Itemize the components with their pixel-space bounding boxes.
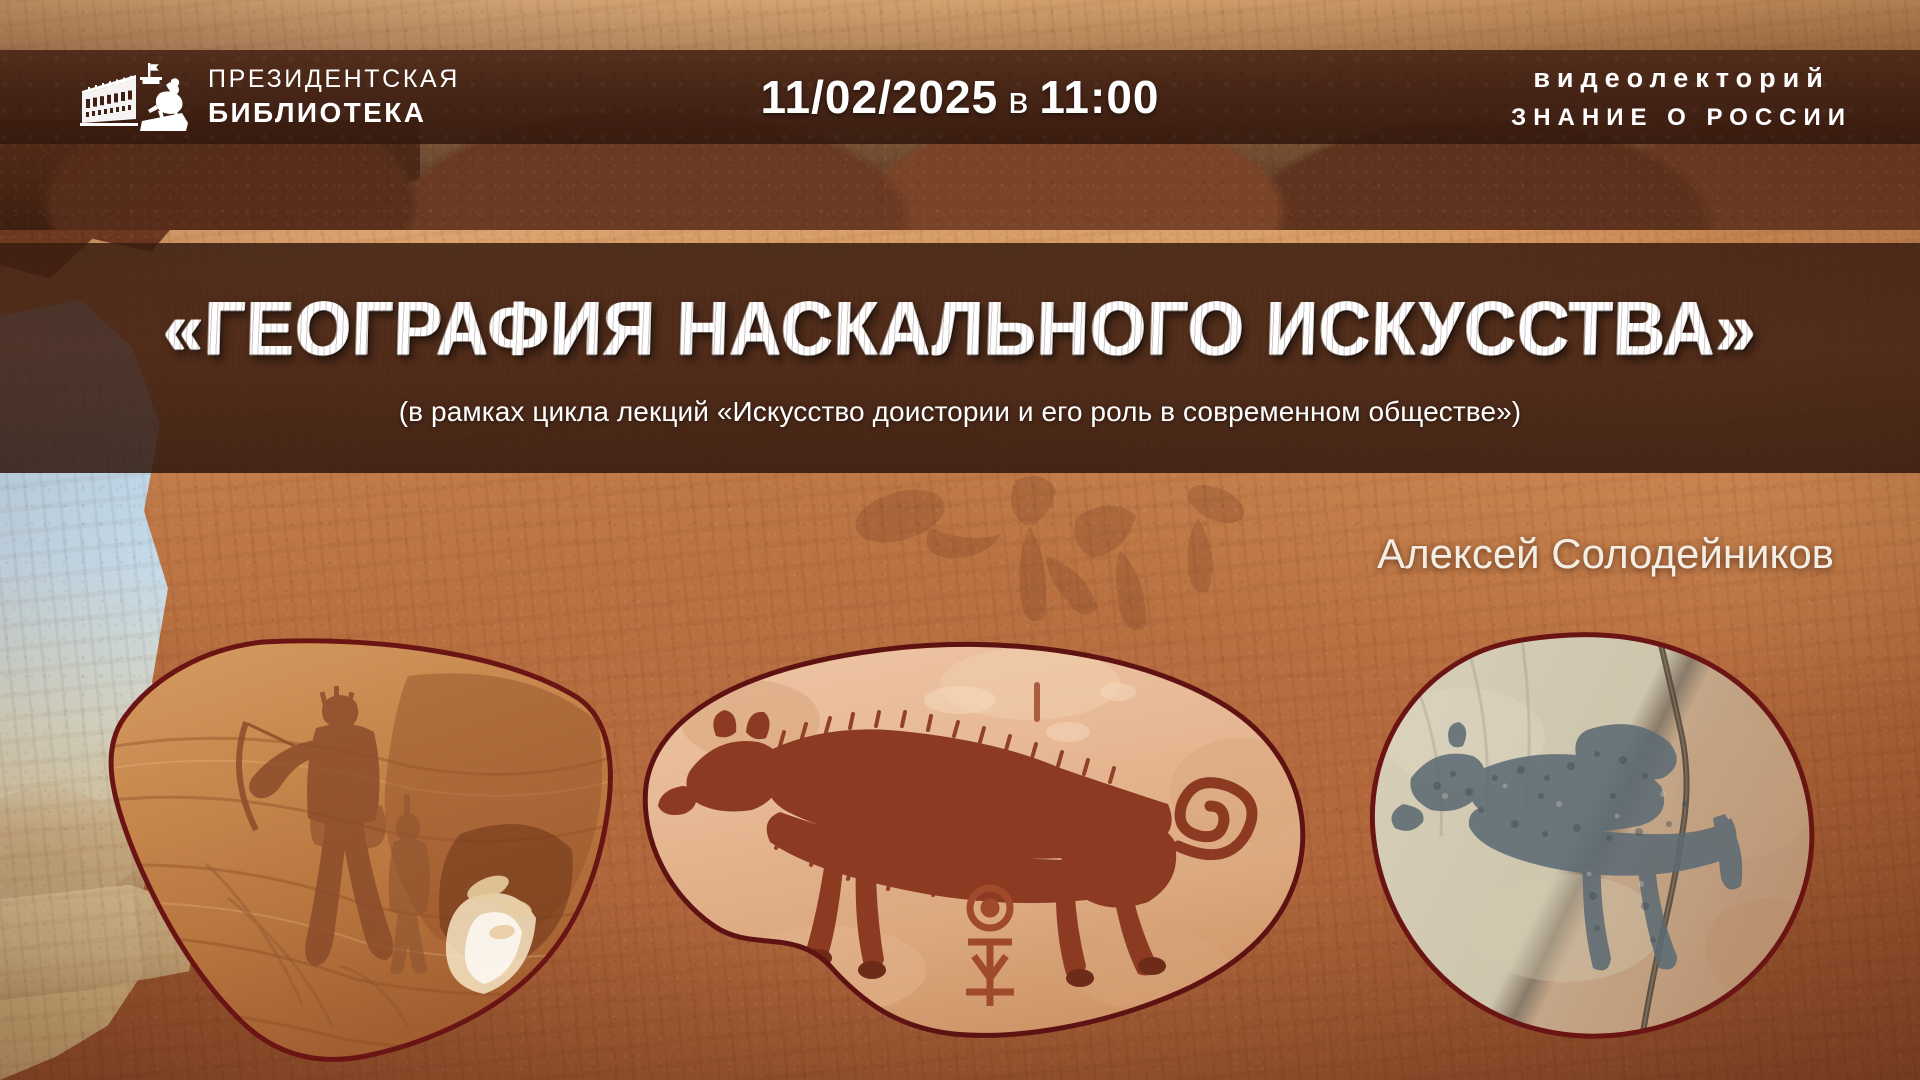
series-line-1: видеолекторий [1511, 63, 1852, 94]
datetime-separator: в [998, 80, 1039, 122]
brand-block[interactable]: ПРЕЗИДЕНТСКАЯ БИБЛИОТЕКА [78, 61, 460, 133]
brand-line-2: БИБЛИОТЕКА [208, 99, 460, 127]
series-line-2: ЗНАНИЕ О РОССИИ [1511, 104, 1852, 132]
header-bar: ПРЕЗИДЕНТСКАЯ БИБЛИОТЕКА 11/02/2025в11:0… [0, 50, 1920, 144]
page-title: «ГЕОГРАФИЯ НАСКАЛЬНОГО ИСКУССТВА» [162, 286, 1758, 373]
series-block: видеолекторий ЗНАНИЕ О РОССИИ [1511, 63, 1852, 132]
event-datetime: 11/02/2025в11:00 [761, 70, 1160, 124]
event-time: 11:00 [1039, 71, 1159, 123]
presidential-library-building-icon [78, 61, 190, 133]
speaker-name: Алексей Солодейников [1377, 530, 1834, 578]
rock-art-quadruped-with-spiral [630, 640, 1320, 1060]
brand-line-1: ПРЕЗИДЕНТСКАЯ [208, 67, 460, 92]
rock-art-pecked-petroglyph [1345, 628, 1865, 1048]
title-band: «ГЕОГРАФИЯ НАСКАЛЬНОГО ИСКУССТВА» (в рам… [0, 243, 1920, 473]
page-subtitle: (в рамках цикла лекций «Искусство доисто… [399, 396, 1521, 428]
poster-root: ПРЕЗИДЕНТСКАЯ БИБЛИОТЕКА 11/02/2025в11:0… [0, 0, 1920, 1080]
brand-text-block: ПРЕЗИДЕНТСКАЯ БИБЛИОТЕКА [208, 67, 460, 127]
event-date: 11/02/2025 [761, 71, 999, 123]
rock-art-archer-figure [78, 636, 618, 1066]
